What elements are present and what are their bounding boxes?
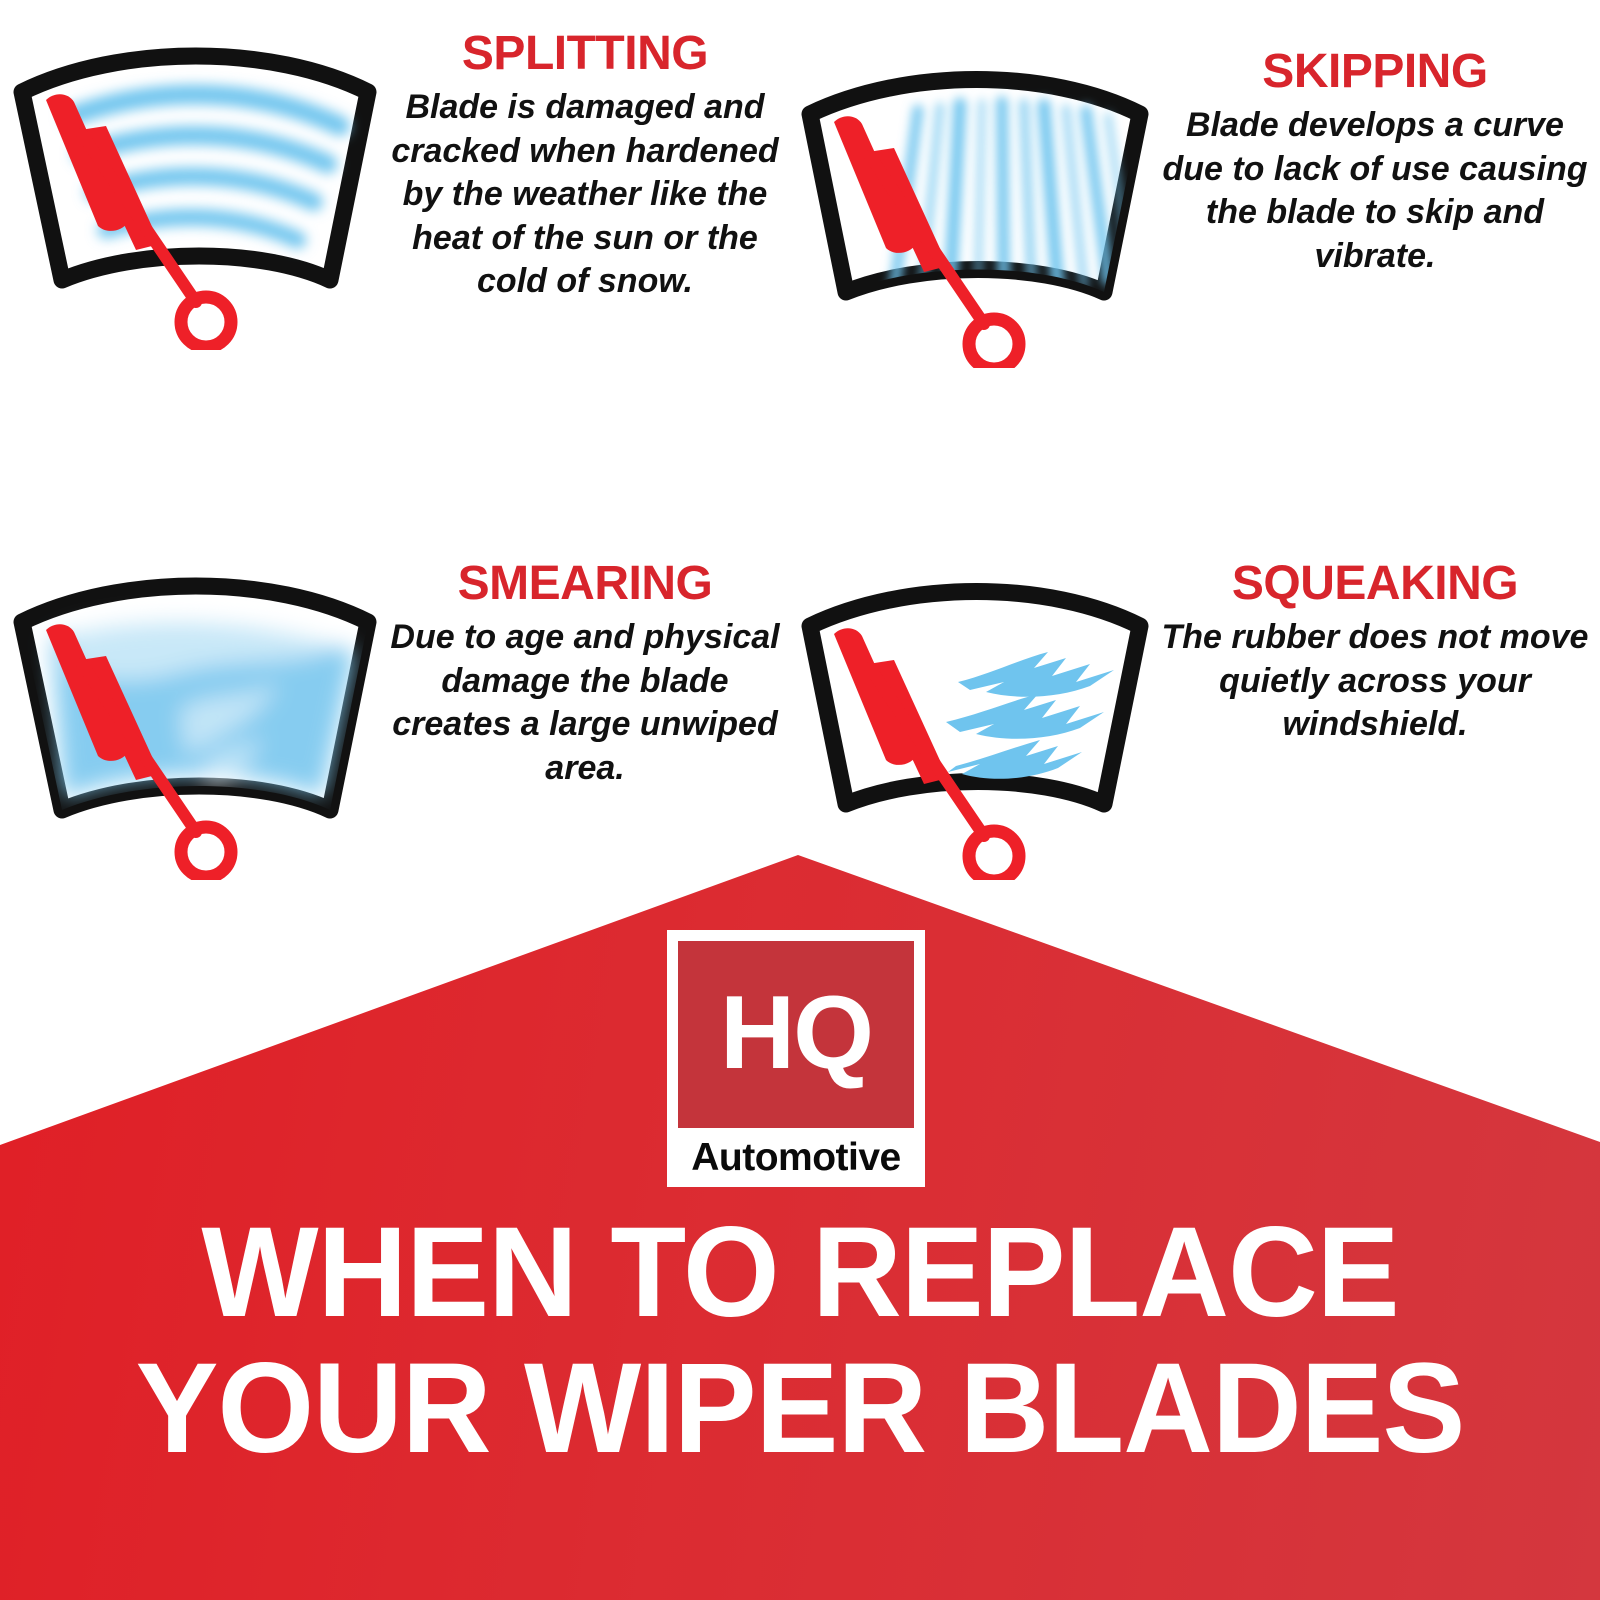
logo-mark-square: HQ [678,941,914,1128]
logo-subtitle: Automotive [678,1128,914,1187]
panel-text-splitting: SPLITTING Blade is damaged and cracked w… [380,30,790,304]
panel-text-skipping: SKIPPING Blade develops a curve due to l… [1160,48,1590,278]
panel-title: SPLITTING [380,30,790,78]
wiper-blade-streaks-icon [790,48,1160,373]
wiper-blade-smear-icon [10,560,380,885]
infographic-canvas: SPLITTING Blade is damaged and cracked w… [0,0,1600,1600]
hq-automotive-logo: HQ Automotive [667,930,925,1187]
panel-splitting: SPLITTING Blade is damaged and cracked w… [10,30,790,355]
headline-line-1: WHEN TO REPLACE [24,1205,1576,1341]
wiper-blade-arcs-icon [10,30,380,355]
wiper-blade-zigzag-icon [790,560,1160,885]
logo-mark-text: HQ [720,981,872,1085]
panel-title: SMEARING [380,560,790,608]
panel-description: The rubber does not move quietly across … [1160,616,1590,747]
panel-squeaking: SQUEAKING The rubber does not move quiet… [790,560,1590,885]
headline: WHEN TO REPLACE YOUR WIPER BLADES [0,1205,1600,1476]
headline-line-2: YOUR WIPER BLADES [24,1341,1576,1477]
symptom-panels: SPLITTING Blade is damaged and cracked w… [0,0,1600,860]
panel-text-smearing: SMEARING Due to age and physical damage … [380,560,790,790]
panel-title: SKIPPING [1160,48,1590,96]
panel-title: SQUEAKING [1160,560,1590,608]
panel-text-squeaking: SQUEAKING The rubber does not move quiet… [1160,560,1590,747]
panel-description: Blade is damaged and cracked when harden… [380,86,790,304]
panel-skipping: SKIPPING Blade develops a curve due to l… [790,48,1590,373]
panel-description: Blade develops a curve due to lack of us… [1160,104,1590,278]
panel-smearing: SMEARING Due to age and physical damage … [10,560,790,885]
panel-description: Due to age and physical damage the blade… [380,616,790,790]
